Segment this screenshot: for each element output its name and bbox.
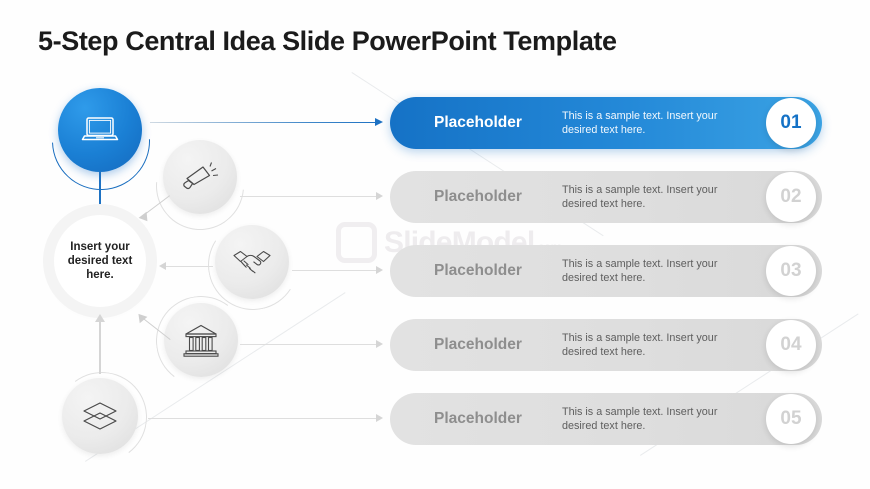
center-node[interactable]: Insert your desired text here. bbox=[54, 215, 146, 307]
step-row-2-badge[interactable]: 02 bbox=[766, 172, 816, 222]
step-row-3-label: Placeholder bbox=[434, 262, 522, 280]
step-row-5-badge[interactable]: 05 bbox=[766, 394, 816, 444]
step-row-3[interactable]: Placeholder This is a sample text. Inser… bbox=[390, 245, 822, 297]
node-megaphone[interactable] bbox=[163, 140, 237, 214]
arrow-layers-to-center-head bbox=[95, 314, 105, 322]
connector-to-row-5-head bbox=[376, 414, 383, 422]
slide-canvas: 5-Step Central Idea Slide PowerPoint Tem… bbox=[0, 0, 870, 489]
connector-to-row-5 bbox=[148, 418, 378, 419]
step-row-4-badge[interactable]: 04 bbox=[766, 320, 816, 370]
step-row-1-description: This is a sample text. Insert your desir… bbox=[562, 109, 752, 138]
step-row-5-description: This is a sample text. Insert your desir… bbox=[562, 405, 752, 434]
step-row-1[interactable]: Placeholder This is a sample text. Inser… bbox=[390, 97, 822, 149]
step-row-4-description: This is a sample text. Insert your desir… bbox=[562, 331, 752, 360]
center-node-text: Insert your desired text here. bbox=[57, 240, 143, 282]
step-row-4-label: Placeholder bbox=[434, 336, 522, 354]
arrow-laptop-to-center-head bbox=[94, 206, 104, 215]
step-row-4[interactable]: Placeholder This is a sample text. Inser… bbox=[390, 319, 822, 371]
connector-to-row-1-head bbox=[375, 118, 383, 126]
connector-to-row-2-head bbox=[376, 192, 383, 200]
step-row-3-badge[interactable]: 03 bbox=[766, 246, 816, 296]
step-row-2[interactable]: Placeholder This is a sample text. Inser… bbox=[390, 171, 822, 223]
connector-to-row-1 bbox=[150, 122, 378, 123]
step-row-3-description: This is a sample text. Insert your desir… bbox=[562, 257, 752, 286]
step-row-4-number: 04 bbox=[780, 334, 801, 356]
step-row-3-number: 03 bbox=[780, 260, 801, 282]
step-row-5-label: Placeholder bbox=[434, 410, 522, 428]
page-title: 5-Step Central Idea Slide PowerPoint Tem… bbox=[38, 26, 617, 57]
bank-icon bbox=[181, 322, 221, 358]
handshake-icon bbox=[230, 247, 274, 277]
laptop-icon bbox=[79, 113, 121, 147]
connector-to-row-3 bbox=[292, 270, 378, 271]
step-row-1-badge[interactable]: 01 bbox=[766, 98, 816, 148]
step-row-2-label: Placeholder bbox=[434, 188, 522, 206]
arrow-handshake-to-center-head bbox=[159, 262, 166, 270]
connector-to-row-4-head bbox=[376, 340, 383, 348]
arrow-handshake-to-center-line bbox=[165, 266, 213, 267]
node-handshake[interactable] bbox=[215, 225, 289, 299]
megaphone-icon bbox=[180, 160, 220, 194]
step-row-2-number: 02 bbox=[780, 186, 801, 208]
connector-to-row-4 bbox=[240, 344, 378, 345]
step-row-5[interactable]: Placeholder This is a sample text. Inser… bbox=[390, 393, 822, 445]
node-bank[interactable] bbox=[164, 303, 238, 377]
layers-icon bbox=[78, 399, 122, 433]
step-row-5-number: 05 bbox=[780, 408, 801, 430]
connector-to-row-2 bbox=[240, 196, 378, 197]
step-row-1-label: Placeholder bbox=[434, 114, 522, 132]
arrow-laptop-to-center-line bbox=[99, 172, 101, 208]
connector-to-row-3-head bbox=[376, 266, 383, 274]
step-row-2-description: This is a sample text. Insert your desir… bbox=[562, 183, 752, 212]
arrow-megaphone-to-center-head bbox=[139, 212, 152, 224]
node-layers[interactable] bbox=[62, 378, 138, 454]
node-laptop[interactable] bbox=[58, 88, 142, 172]
step-row-1-number: 01 bbox=[780, 112, 801, 134]
slidemodel-logo-icon bbox=[336, 222, 377, 263]
arrow-layers-to-center-line bbox=[99, 322, 101, 374]
